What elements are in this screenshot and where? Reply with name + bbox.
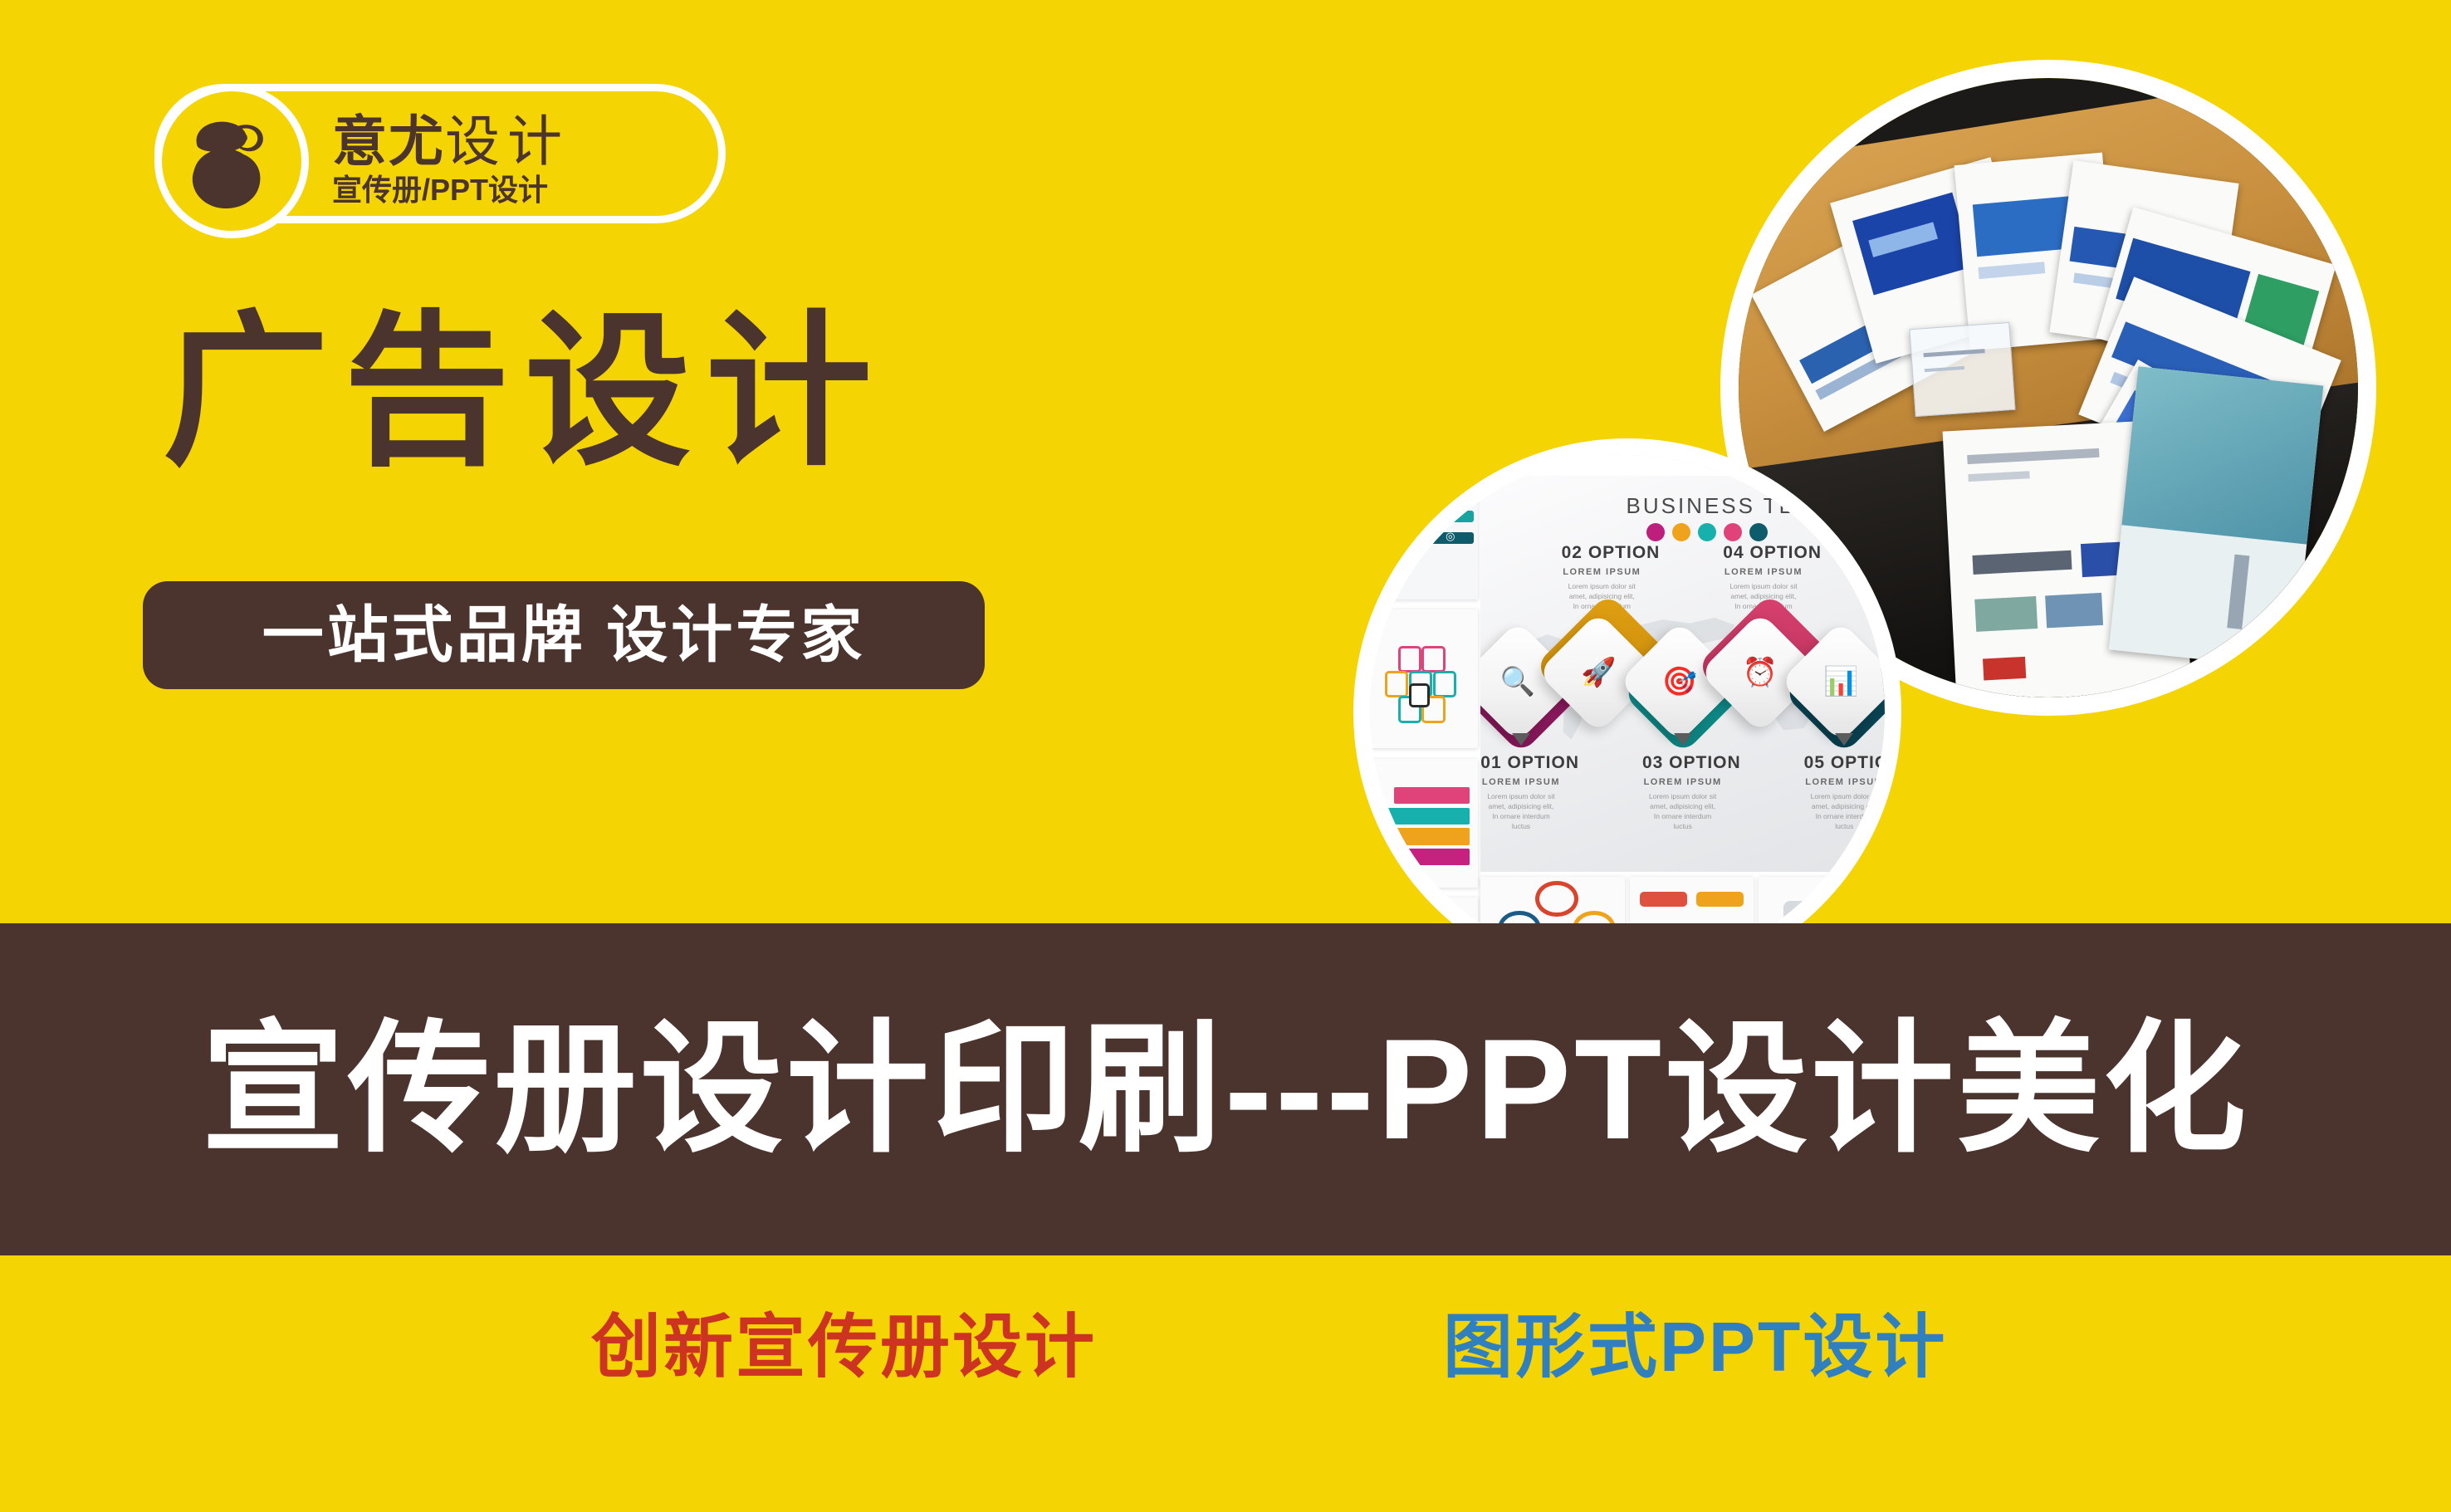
infographic-collage: ⌂ ◎ (1370, 455, 1885, 970)
pointer-triangle-up (1835, 733, 1853, 746)
brand-logo-lockup: 意尤设计 宣传册/PPT设计 (154, 84, 726, 223)
brand-name-thin: 设计 (445, 110, 570, 172)
headline-band: 宣传册设计印刷---PPT设计美化 (0, 923, 2451, 1255)
hero-badge: 一站式品牌 设计专家 (143, 581, 985, 689)
brand-name-bold: 意尤 (332, 110, 445, 172)
brochure-cover-back (2108, 366, 2322, 669)
page-title: 广告设计 (163, 306, 887, 480)
footer-strip: 创新宣传册设计 图形式PPT设计 (0, 1255, 2451, 1512)
brand-text-block: 意尤设计 宣传册/PPT设计 (332, 93, 722, 226)
infographic-main-board: BUSINESS TEMPLATE 🔍 (1480, 476, 1885, 872)
infographic-option-05: 📊 05 OPTION LOREM IPSUM Lorem ipsum dolo… (1804, 476, 1885, 872)
hero-badge-label: 一站式品牌 设计专家 (262, 601, 866, 669)
option-label: 03 OPTION LOREM IPSUM Lorem ipsum dolor … (1642, 753, 1723, 831)
pointer-triangle-up (1674, 733, 1692, 746)
headline-band-text: 宣传册设计印刷---PPT设计美化 (202, 1013, 2249, 1166)
option-label: 05 OPTION LOREM IPSUM Lorem ipsum dolor … (1804, 753, 1885, 831)
chart-icon: 📊 (1798, 639, 1884, 725)
pointer-triangle-up (1512, 733, 1530, 746)
option-diamond: 📊 (1801, 650, 1885, 736)
poster-canvas: 意尤设计 宣传册/PPT设计 广告设计 一站式品牌 设计专家 (0, 0, 2451, 1512)
seed-sprout-logo-icon (154, 84, 309, 238)
infographic-collage-circle: ⌂ ◎ (1353, 438, 1901, 986)
thumbnail-pyramid (1370, 759, 1478, 888)
footer-text-left: 创新宣传册设计 (591, 1307, 1097, 1387)
brand-name: 意尤设计 (332, 111, 722, 171)
thumbnail-arrow-list: ⌂ ◎ (1370, 471, 1478, 599)
brand-tagline: 宣传册/PPT设计 (332, 173, 722, 208)
footer-text-right: 图形式PPT设计 (1443, 1307, 1947, 1387)
card-holder (1909, 322, 2015, 418)
thumbnail-cross-grid (1370, 609, 1478, 748)
option-label: 01 OPTION LOREM IPSUM Lorem ipsum dolor … (1480, 753, 1561, 831)
